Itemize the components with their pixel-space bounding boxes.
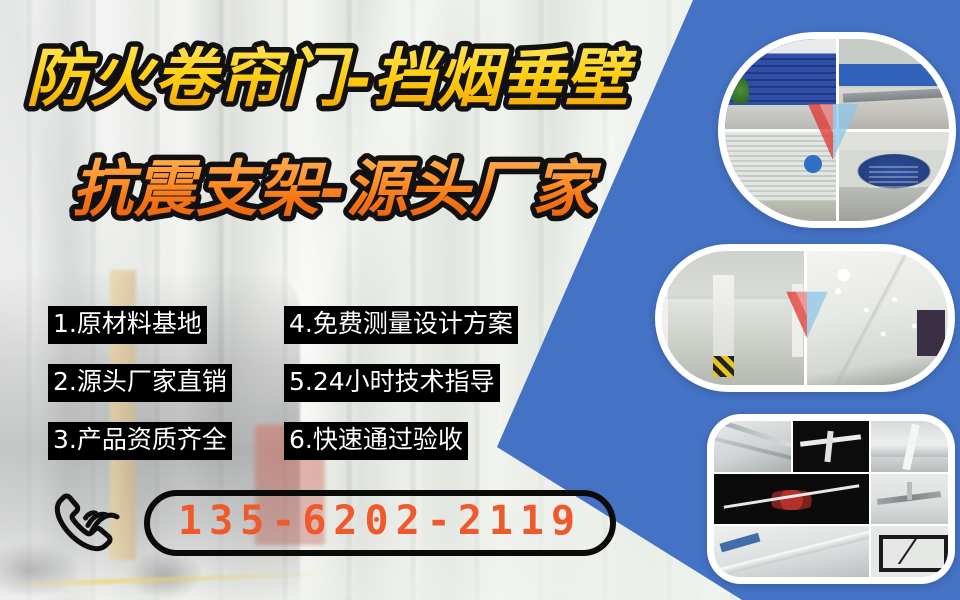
photo-collage-inner xyxy=(714,421,948,577)
photo-grey-rolling-shutter xyxy=(725,132,836,222)
contact-row: 135-6202-2119 xyxy=(44,484,616,562)
headline-primary-svg: 防火卷帘门-挡烟垂壁 防火卷帘门-挡烟垂壁 xyxy=(22,38,682,116)
photo-pill-inner xyxy=(662,251,948,385)
photo-large-ceiling-fan xyxy=(871,474,948,525)
banner-canvas: 防火卷帘门-挡烟垂壁 防火卷帘门-挡烟垂壁 抗震支架-源头厂家 抗震支架-源头厂… xyxy=(0,0,960,600)
basement-project-photos[interactable] xyxy=(655,244,955,392)
photo-steel-frame-bracing xyxy=(871,526,948,577)
headline-primary-text: 防火卷帘门-挡烟垂壁 xyxy=(26,42,637,115)
feature-item-2: 2.源头厂家直销 xyxy=(48,364,232,402)
feature-item-4: 4.免费测量设计方案 xyxy=(284,306,518,344)
photo-blue-shutter-roll-drum xyxy=(839,132,950,222)
feature-item-5: 5.24小时技术指导 xyxy=(284,364,500,402)
photo-grid-inner xyxy=(725,39,949,221)
headline-secondary: 抗震支架-源头厂家 抗震支架-源头厂家 xyxy=(68,150,668,226)
seismic-bracket-photo-collage[interactable] xyxy=(707,414,955,584)
phone-number: 135-6202-2119 xyxy=(178,500,582,542)
photo-blue-fire-shutter-door xyxy=(725,39,836,129)
feature-list: 1.原材料基地 4.免费测量设计方案 2.源头厂家直销 5.24小时技术指导 3… xyxy=(48,296,558,470)
photo-roll-forming-machine-line xyxy=(839,39,950,129)
photo-pipe-clamp-bracket xyxy=(871,421,948,472)
headline-secondary-svg: 抗震支架-源头厂家 抗震支架-源头厂家 xyxy=(68,150,668,226)
phone-call-icon xyxy=(44,484,122,562)
feature-item-3: 3.产品资质齐全 xyxy=(48,422,232,460)
feature-item-1: 1.原材料基地 xyxy=(48,306,207,344)
headline-secondary-text: 抗震支架-源头厂家 xyxy=(72,154,601,225)
phone-number-pill[interactable]: 135-6202-2119 xyxy=(144,490,616,556)
photo-duct-hanger-bracket xyxy=(714,526,869,577)
photo-dark-bracket-detail xyxy=(793,421,870,472)
headline-primary: 防火卷帘门-挡烟垂壁 防火卷帘门-挡烟垂壁 xyxy=(22,38,682,116)
photo-ceiling-grid-interior xyxy=(807,251,949,385)
photo-pipe-bracing-ceiling xyxy=(714,421,791,472)
photo-underground-garage-structure xyxy=(662,251,804,385)
fire-shutter-photo-grid[interactable] xyxy=(718,32,956,228)
feature-item-6: 6.快速通过验收 xyxy=(284,422,468,460)
photo-red-fan-bracket xyxy=(714,474,869,525)
